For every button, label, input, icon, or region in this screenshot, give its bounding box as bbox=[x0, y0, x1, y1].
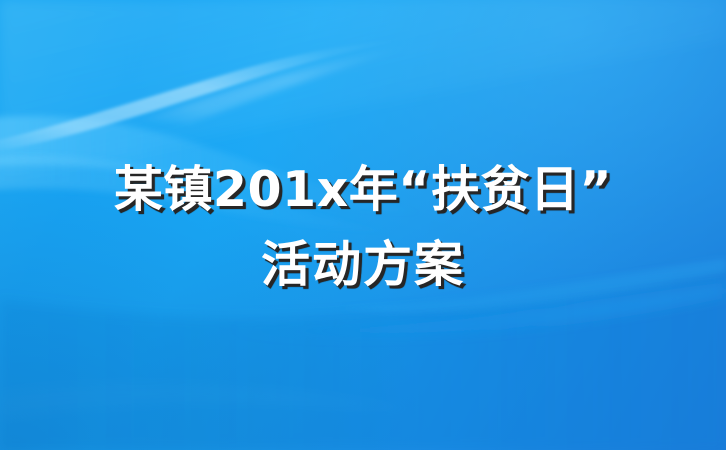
cover-title-line-1: 某镇201x年“扶贫日” bbox=[0, 152, 726, 227]
wave-diagonal-streak-echo bbox=[140, 44, 420, 124]
wave-upper-soft bbox=[0, 0, 726, 176]
wave-bottom-left bbox=[0, 383, 420, 420]
cover-title-line-2: 活动方案 bbox=[0, 227, 726, 302]
wave-diagonal-streak bbox=[0, 40, 400, 152]
cover-banner: 某镇201x年“扶贫日” 活动方案 bbox=[0, 0, 726, 450]
cover-title-block: 某镇201x年“扶贫日” 活动方案 bbox=[0, 152, 726, 302]
